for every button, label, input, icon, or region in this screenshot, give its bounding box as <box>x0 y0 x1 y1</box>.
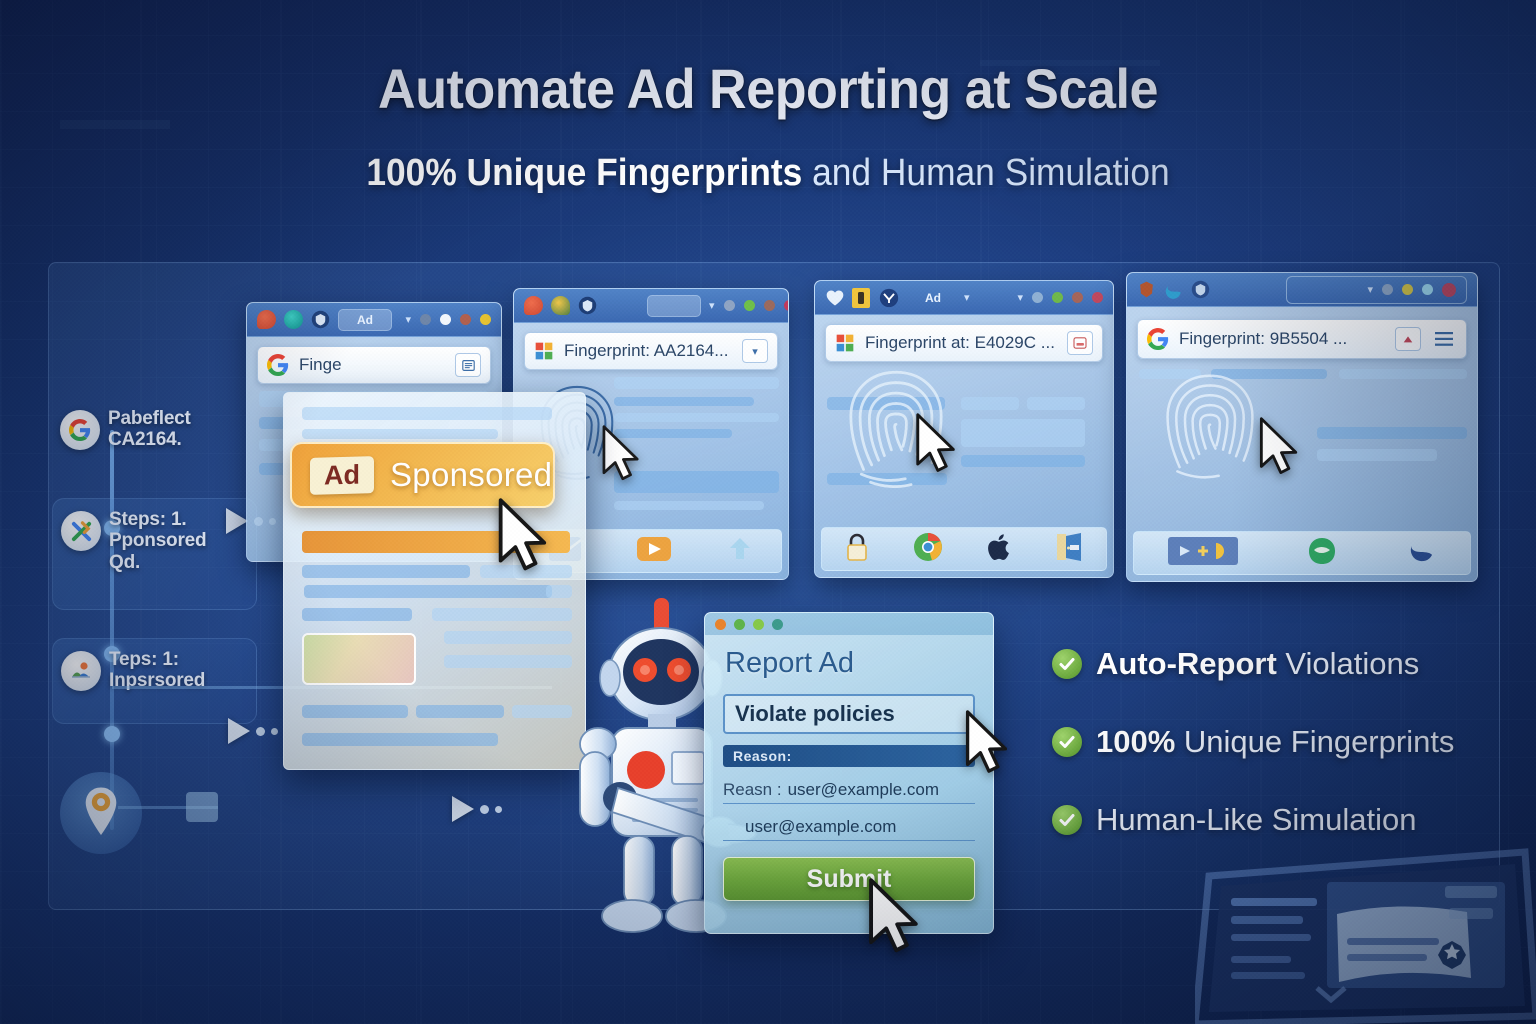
subtitle-rest: and Human Simulation <box>802 152 1169 194</box>
window-control-dot[interactable] <box>1092 292 1103 303</box>
report-ad-dialog[interactable]: Report Ad Violate policies Reason: Reasn… <box>704 612 994 934</box>
timeline-item-3[interactable]: Teps: 1: Inpsrsored <box>52 638 257 724</box>
poster-canvas: Automate Ad Reporting at Scale 100% Uniq… <box>0 0 1536 1024</box>
door-icon[interactable] <box>1055 532 1085 567</box>
mouse-cursor-icon <box>1255 417 1303 482</box>
bookmark-icon[interactable] <box>1395 327 1421 351</box>
video-play-icon[interactable] <box>636 536 672 567</box>
feature-item-2-bold: 100% <box>1096 724 1175 759</box>
violation-select[interactable]: Violate policies <box>723 694 975 734</box>
window-control-dot[interactable] <box>480 314 491 325</box>
reason-section-header: Reason: <box>723 745 975 767</box>
browser-window-4[interactable]: ▾ Fingerprint: 9B5504 ... <box>1126 272 1478 582</box>
share-icon[interactable] <box>726 536 754 567</box>
feature-item-2-text: 100% Unique Fingerprints <box>1096 724 1454 760</box>
fingerprint-icon <box>1155 367 1265 496</box>
check-circle-icon <box>1052 727 1082 757</box>
browser-window-3[interactable]: Ad ▾ ▾ Fingerprint at: E4029C ... <box>814 280 1114 578</box>
window-1-titlebar: Ad ▾ <box>247 303 501 337</box>
red-leaf-icon[interactable] <box>257 310 276 329</box>
flow-connector-3 <box>452 796 502 822</box>
yahoo-icon[interactable] <box>879 288 898 307</box>
window-2-tab[interactable] <box>647 295 701 317</box>
window-3-app-strip <box>821 527 1107 571</box>
window-1-omnibox[interactable]: Finge <box>257 346 491 384</box>
chrome-icon[interactable] <box>913 532 943 567</box>
check-circle-icon <box>1052 805 1082 835</box>
connector-dot <box>480 805 489 814</box>
shield-icon[interactable] <box>311 310 330 329</box>
window-close-dot[interactable] <box>1442 283 1456 297</box>
email-field-value: user@example.com <box>745 817 896 837</box>
feature-item-2-rest: Unique Fingerprints <box>1175 724 1454 759</box>
timeline-node-dot <box>104 726 120 742</box>
timeline-item-1-line2: CA2164. <box>108 429 247 450</box>
google-icon <box>267 354 289 376</box>
window-3-omnibox[interactable]: Fingerprint at: E4029C ... <box>825 324 1103 362</box>
window-2-controls: ▾ <box>709 299 789 312</box>
window-4-url-text: Fingerprint: 9B5504 ... <box>1179 329 1385 349</box>
window-control-dot[interactable] <box>724 300 735 311</box>
shield-icon[interactable] <box>578 296 597 315</box>
window-1-controls: ▾ <box>405 313 491 326</box>
window-control-dot[interactable] <box>744 300 755 311</box>
window-2-titlebar: ▾ <box>514 289 788 323</box>
navigation-icon[interactable] <box>1168 537 1238 570</box>
window-control-dot[interactable] <box>440 314 451 325</box>
window-4-tab[interactable] <box>1218 279 1272 301</box>
window-3-url-text: Fingerprint at: E4029C ... <box>865 333 1057 353</box>
flow-node-box <box>186 792 218 822</box>
feature-item-1-text: Auto-Report Violations <box>1096 646 1419 682</box>
edge-dark-icon[interactable] <box>1406 537 1436 570</box>
mouse-cursor-icon <box>862 878 926 961</box>
window-control-dot[interactable] <box>460 314 471 325</box>
window-3-controls: ▾ <box>1017 291 1103 304</box>
window-control-dot[interactable] <box>734 619 745 630</box>
edge-icon[interactable] <box>1164 280 1183 299</box>
yellow-leaf-icon[interactable] <box>551 296 570 315</box>
feature-item-1-bold: Auto-Report <box>1096 646 1277 681</box>
window-1-tab[interactable]: Ad <box>338 309 392 331</box>
apple-icon[interactable] <box>986 532 1012 567</box>
mouse-cursor-icon <box>960 710 1014 781</box>
window-4-content <box>1127 365 1477 581</box>
window-control-dot[interactable] <box>1402 284 1413 295</box>
timeline-item-1-line1: Pabeflect <box>108 408 247 429</box>
window-1-url-text: Finge <box>299 355 445 375</box>
connector-dot <box>495 806 502 813</box>
feature-item-1: Auto-Report Violations <box>1052 625 1522 703</box>
connector-dot <box>256 727 265 736</box>
violation-select-value: Violate policies <box>735 701 895 727</box>
window-4-titlebar: ▾ <box>1127 273 1477 307</box>
window-control-dot[interactable] <box>753 619 764 630</box>
subtitle-highlight: 100% Unique Fingerprints <box>366 152 802 194</box>
reason-section-label: Reason: <box>733 748 792 764</box>
google-icon <box>1147 328 1169 350</box>
arrow-right-icon <box>228 718 250 744</box>
page-title: Automate Ad Reporting at Scale <box>54 56 1482 121</box>
mouse-cursor-icon <box>911 413 961 480</box>
arrow-right-icon <box>452 796 474 822</box>
window-control-dot[interactable] <box>420 314 431 325</box>
arrow-right-icon <box>226 508 248 534</box>
timeline-item-3-line1: Teps: 1: <box>109 649 246 670</box>
shield-icon[interactable] <box>1191 280 1210 299</box>
chevron-down-icon[interactable]: ▾ <box>405 313 411 326</box>
mouse-cursor-icon <box>492 498 554 579</box>
chevron-down-icon[interactable]: ▾ <box>709 299 715 312</box>
check-circle-icon <box>1052 649 1082 679</box>
window-3-content <box>815 363 1113 577</box>
email-field[interactable]: user@example.com <box>723 813 975 841</box>
window-control-dot[interactable] <box>772 619 783 630</box>
flow-connector-2 <box>228 718 278 744</box>
window-control-dot[interactable] <box>784 300 789 311</box>
feature-item-3-rest: Human-Like Simulation <box>1096 802 1416 837</box>
window-4-omnibox[interactable]: Fingerprint: 9B5504 ... <box>1137 319 1467 359</box>
bookmark-icon[interactable] <box>1067 331 1093 355</box>
window-control-dot[interactable] <box>1072 292 1083 303</box>
gold-badge-icon[interactable] <box>852 288 871 307</box>
submit-button[interactable]: Submit <box>723 857 975 901</box>
list-icon[interactable] <box>455 353 481 377</box>
window-2-url-text: Fingerprint: AA2164... <box>564 341 732 361</box>
location-pin-icon <box>82 786 120 843</box>
feature-item-2: 100% Unique Fingerprints <box>1052 703 1522 781</box>
dialog-titlebar <box>705 613 993 635</box>
chevron-down-icon[interactable]: ▾ <box>1367 283 1373 296</box>
laptop-illustration <box>1195 846 1536 1024</box>
profile-switch-icon <box>61 511 101 551</box>
timeline-item-4[interactable] <box>60 772 142 854</box>
chevron-down-icon[interactable]: ▾ <box>742 339 768 363</box>
feature-list: Auto-Report Violations 100% Unique Finge… <box>1052 625 1522 859</box>
microsoft-icon <box>534 341 554 361</box>
green-mask-icon[interactable] <box>1305 536 1339 571</box>
ad-tag-label: Ad <box>310 456 374 495</box>
profile-photos-icon <box>61 651 101 691</box>
reason-field[interactable]: Reasn : user@example.com <box>723 776 975 804</box>
dialog-title: Report Ad <box>725 647 993 680</box>
reason-field-value: user@example.com <box>788 780 939 800</box>
window-3-tab[interactable]: Ad <box>906 287 960 309</box>
feature-item-3-text: Human-Like Simulation <box>1096 802 1416 838</box>
lock-icon[interactable] <box>844 532 870 567</box>
white-heart-icon[interactable] <box>825 288 844 307</box>
window-control-dot[interactable] <box>715 619 726 630</box>
sponsored-label: Sponsored <box>390 456 552 494</box>
timeline-item-1[interactable]: Pabeflect CA2164. <box>52 398 257 474</box>
window-control-dot[interactable] <box>1382 284 1393 295</box>
feature-item-1-rest: Violations <box>1277 646 1419 681</box>
window-control-dot[interactable] <box>1052 292 1063 303</box>
connector-dot <box>271 728 278 735</box>
chevron-down-icon[interactable]: ▾ <box>1017 291 1023 304</box>
microsoft-icon <box>835 333 855 353</box>
red-leaf-icon[interactable] <box>524 296 543 315</box>
window-2-omnibox[interactable]: Fingerprint: AA2164... ▾ <box>524 332 778 370</box>
window-control-dot[interactable] <box>1032 292 1043 303</box>
google-icon <box>60 410 100 450</box>
window-4-controls: ▾ <box>1286 276 1467 304</box>
chevron-down-icon[interactable]: ▾ <box>964 291 970 304</box>
window-control-dot[interactable] <box>764 300 775 311</box>
brave-icon[interactable] <box>1137 280 1156 299</box>
result-thumbnail <box>302 633 416 685</box>
window-4-app-strip <box>1133 531 1471 575</box>
teal-circle-icon[interactable] <box>284 310 303 329</box>
window-control-dot[interactable] <box>1422 284 1433 295</box>
timeline-rail <box>110 430 114 830</box>
mouse-cursor-icon <box>598 425 644 488</box>
reason-field-label: Reasn : <box>723 780 782 800</box>
window-3-titlebar: Ad ▾ ▾ <box>815 281 1113 315</box>
timeline-item-2-line3: Qd. <box>109 552 246 573</box>
page-subtitle: 100% Unique Fingerprints and Human Simul… <box>54 152 1482 195</box>
menu-icon[interactable] <box>1431 327 1457 351</box>
